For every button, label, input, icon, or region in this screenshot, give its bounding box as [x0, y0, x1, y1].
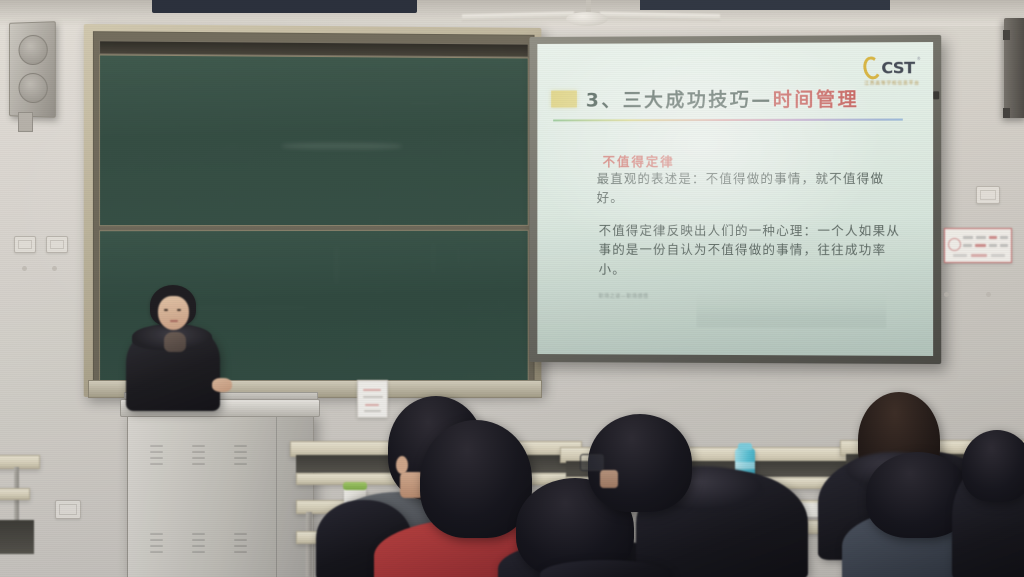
lecture-podium	[127, 412, 314, 577]
teacher-scarf	[164, 332, 186, 352]
cst-logo-superscript: ®	[917, 56, 921, 61]
wall-speaker-left	[9, 21, 56, 118]
wall-notice-sign	[944, 228, 1012, 263]
screen-frame-fitting	[933, 91, 939, 99]
teacher-hand	[212, 378, 232, 392]
wall-screw-right-b	[986, 292, 991, 297]
slide-paragraph-1: 最直观的表述是：不值得做的事情，就不值得做好。	[597, 169, 907, 208]
cst-arc-icon	[861, 55, 883, 81]
wall-outlet-lower-left[interactable]	[55, 500, 81, 519]
paper-cup-lid	[343, 482, 367, 490]
speaker-right-bracket-top	[1003, 30, 1010, 40]
slide-title-main: 三大成功技巧—	[623, 89, 773, 111]
slide-title-bullet	[551, 91, 577, 108]
cst-logo-tagline: 江苏高等学校信息平台	[863, 80, 921, 86]
thermos-label	[735, 462, 755, 469]
slide-title: 3、三大成功技巧—时间管理	[586, 85, 859, 113]
slide-title-divider	[553, 119, 903, 122]
cst-logo-text: CST	[881, 58, 914, 77]
slide-footer-text: 职场之道—职场感悟	[599, 293, 649, 300]
wall-screw-right	[944, 292, 949, 297]
teacher-eye-right	[177, 309, 181, 311]
teacher-eye-left	[164, 309, 168, 311]
ceiling-beam-right	[640, 0, 890, 10]
blackboard-panel-top	[99, 54, 529, 226]
slide-paragraph-2: 不值得定律反映出人们的一种心理：一个人如果从事的是一份自认为不值得做的事情，往往…	[599, 221, 909, 280]
ceiling-fan-hub	[566, 12, 608, 26]
speaker-left-bracket	[18, 112, 33, 132]
notice-seal-icon	[948, 238, 961, 251]
projection-screen-frame: 3、三大成功技巧—时间管理 不值得定律 最直观的表述是：不值得做的事情，就不值得…	[529, 35, 941, 364]
student-hair	[962, 430, 1024, 502]
desk-far-left-base	[0, 520, 34, 554]
wall-switch-left-a[interactable]	[14, 236, 36, 253]
wall-switch-right[interactable]	[976, 186, 1000, 204]
teacher-mouth	[170, 320, 178, 322]
student-neck	[600, 470, 618, 488]
classroom-photo: 3、三大成功技巧—时间管理 不值得定律 最直观的表述是：不值得做的事情，就不值得…	[0, 0, 1024, 577]
speaker-right-bracket-bottom	[1003, 108, 1010, 118]
desk-leg-mid-left	[306, 512, 312, 577]
projection-screen: 3、三大成功技巧—时间管理 不值得定律 最直观的表述是：不值得做的事情，就不值得…	[537, 42, 933, 356]
slide-title-row: 3、三大成功技巧—时间管理	[551, 85, 859, 113]
desk-far-left-top	[0, 455, 40, 469]
speaker-driver-top	[19, 35, 48, 65]
speaker-driver-bottom	[19, 73, 48, 103]
slide-number: 3、	[586, 89, 623, 111]
wall-switch-left-b[interactable]	[46, 236, 68, 253]
student-hair	[420, 420, 532, 538]
cst-logo-mark: CST ®	[863, 56, 921, 79]
teacher-face	[158, 296, 189, 330]
slide-watermark-image	[696, 288, 887, 329]
podium-paper-sign	[357, 380, 388, 418]
cst-logo: CST ® 江苏高等学校信息平台	[863, 56, 921, 86]
thermos-cap	[738, 443, 752, 450]
slide-title-highlight: 时间管理	[773, 89, 859, 111]
wall-screw-b	[52, 266, 57, 271]
wall-screw-a	[22, 266, 27, 271]
ceiling-beam-left	[152, 0, 417, 13]
eyeglasses-icon	[580, 454, 604, 471]
desk-far-left-shelf	[0, 488, 30, 500]
slide-subtitle: 不值得定律	[603, 151, 675, 170]
podium-panel-seam	[276, 413, 277, 577]
